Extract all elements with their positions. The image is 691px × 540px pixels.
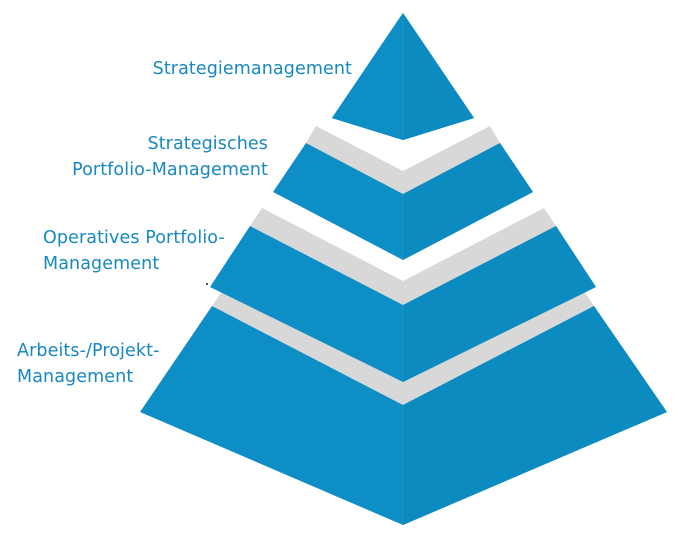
pyramid-label-arbeits-projekt-management: Arbeits-/Projekt- Management	[17, 338, 277, 390]
pyramid-tier-1	[332, 13, 474, 140]
pyramid-diagram: Strategiemanagement Strategisches Portfo…	[0, 0, 691, 540]
pyramid-label-strategiemanagement: Strategiemanagement	[12, 56, 352, 82]
pyramid-label-operatives-portfolio-management: Operatives Portfolio- Management	[43, 225, 303, 277]
image-speck-artifact	[206, 283, 208, 285]
pyramid-label-strategisches-portfolio-management: Strategisches Portfolio-Management	[12, 131, 268, 183]
